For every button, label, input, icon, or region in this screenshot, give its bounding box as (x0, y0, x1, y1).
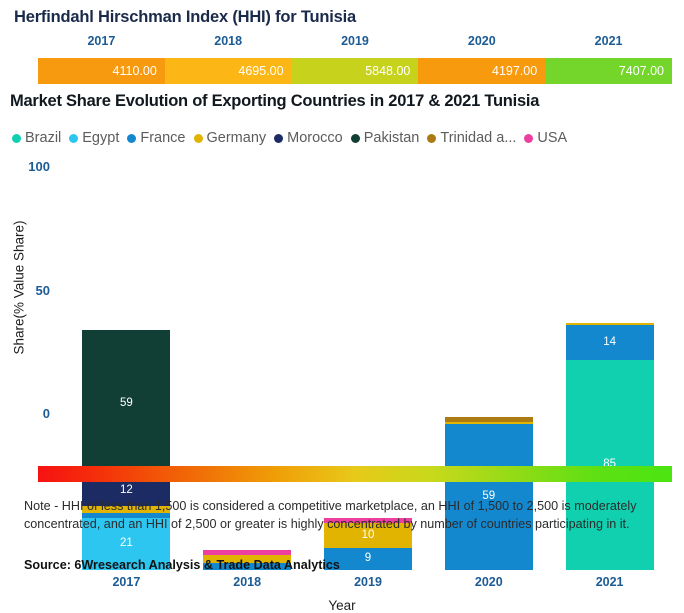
hhi-value-2019: 5848.00 (292, 58, 419, 84)
legend-dot-icon (12, 134, 21, 143)
chart-title: Market Share Evolution of Exporting Coun… (10, 92, 539, 111)
bar-segment-2020-trinidada[interactable] (445, 417, 533, 422)
x-tick-2020: 2020 (434, 575, 544, 589)
hhi-year-2020: 2020 (418, 34, 545, 54)
hhi-year-row: 20172018201920202021 (38, 34, 672, 54)
bar-segment-2021-france[interactable]: 14 (566, 325, 654, 360)
x-tick-2018: 2018 (192, 575, 302, 589)
legend-dot-icon (194, 134, 203, 143)
y-tick-100: 100 (14, 159, 50, 174)
bar-segment-2018-usa[interactable] (203, 550, 291, 555)
hhi-value-2021: 7407.00 (545, 58, 672, 84)
legend-dot-icon (524, 134, 533, 143)
legend-item-pakistan[interactable]: Pakistan (351, 130, 420, 146)
y-tick-0: 0 (14, 406, 50, 421)
hhi-year-2019: 2019 (292, 34, 419, 54)
legend-label: France (140, 130, 185, 146)
y-tick-50: 50 (14, 283, 50, 298)
hhi-year-2017: 2017 (38, 34, 165, 54)
legend-item-morocco[interactable]: Morocco (274, 130, 343, 146)
legend-dot-icon (127, 134, 136, 143)
x-tick-2019: 2019 (313, 575, 423, 589)
legend-label: Pakistan (364, 130, 420, 146)
legend-dot-icon (427, 134, 436, 143)
source-text: Source: 6Wresearch Analysis & Trade Data… (24, 558, 340, 572)
bar-segment-value: 12 (120, 485, 133, 497)
legend-item-germany[interactable]: Germany (194, 130, 267, 146)
legend-item-france[interactable]: France (127, 130, 185, 146)
bar-segment-value: 14 (603, 337, 616, 349)
hhi-market-share-infographic: Herfindahl Hirschman Index (HHI) for Tun… (0, 0, 684, 600)
legend-item-trinidada[interactable]: Trinidad a... (427, 130, 516, 146)
legend-dot-icon (274, 134, 283, 143)
legend-label: Egypt (82, 130, 119, 146)
hhi-year-2021: 2021 (545, 34, 672, 54)
chart-legend: BrazilEgyptFranceGermanyMoroccoPakistanT… (12, 126, 684, 150)
legend-label: Morocco (287, 130, 343, 146)
note-text: Note - HHI of less than 1,500 is conside… (24, 497, 672, 534)
legend-dot-icon (351, 134, 360, 143)
bar-segment-value: 59 (120, 398, 133, 410)
bar-segment-value: 21 (120, 538, 133, 550)
bar-segment-2020-germany[interactable] (445, 422, 533, 424)
legend-label: USA (537, 130, 567, 146)
legend-item-egypt[interactable]: Egypt (69, 130, 119, 146)
hhi-value-2020: 4197.00 (418, 58, 545, 84)
bar-column-2017[interactable]: 211259 (82, 330, 170, 570)
stacked-bar-chart: Share(% Value Share) 100500 211259910598… (0, 155, 684, 445)
bar-segment-2017-pakistan[interactable]: 59 (82, 330, 170, 476)
x-tick-2021: 2021 (555, 575, 665, 589)
legend-label: Trinidad a... (440, 130, 516, 146)
hhi-value-bar: 4110.004695.005848.004197.007407.00 (38, 58, 672, 84)
x-tick-2017: 2017 (71, 575, 181, 589)
legend-label: Brazil (25, 130, 61, 146)
bar-segment-value: 9 (365, 553, 371, 565)
legend-item-brazil[interactable]: Brazil (12, 130, 61, 146)
legend-item-usa[interactable]: USA (524, 130, 567, 146)
bar-column-2020[interactable]: 59 (445, 417, 533, 570)
hhi-value-2017: 4110.00 (38, 58, 165, 84)
x-axis-label: Year (0, 598, 684, 613)
bar-segment-2021-germany[interactable] (566, 323, 654, 325)
legend-dot-icon (69, 134, 78, 143)
legend-label: Germany (207, 130, 267, 146)
hhi-title: Herfindahl Hirschman Index (HHI) for Tun… (14, 8, 356, 27)
hhi-year-2018: 2018 (165, 34, 292, 54)
hhi-color-scale-bar (38, 466, 672, 482)
hhi-value-2018: 4695.00 (165, 58, 292, 84)
